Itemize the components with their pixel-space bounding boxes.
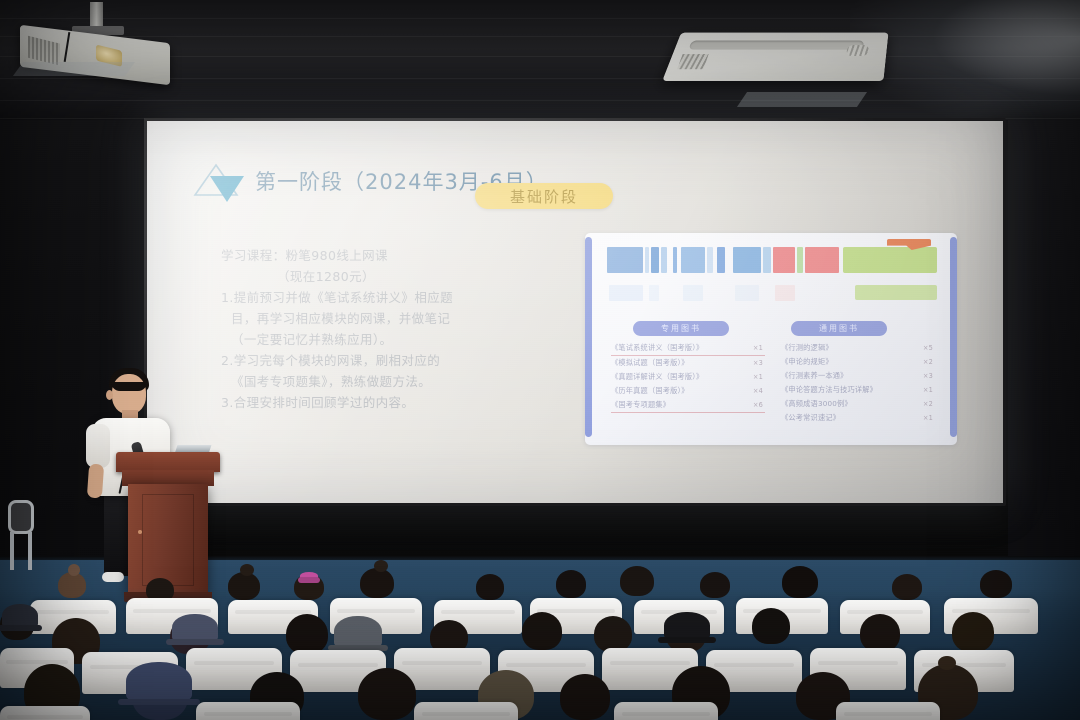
audience-head — [358, 668, 416, 720]
audience-cap — [2, 604, 38, 628]
audience-head — [980, 570, 1012, 598]
body-line: 1.提前预习并做《笔试系统讲义》相应题 — [221, 287, 531, 308]
presenter-ear — [106, 390, 113, 400]
book-column-special: 《笔试系统讲义（国考版）》 ×1 《模拟试题（国考版）》 ×3 《真题详解讲义（… — [611, 341, 765, 413]
book-name: 《公考常识速记》 — [781, 413, 840, 423]
book-green-block — [843, 247, 937, 273]
audience-cap — [334, 616, 382, 648]
book-name: 《真题详解讲义（国考版）》 — [611, 372, 703, 382]
audience-hair-bun — [240, 564, 254, 576]
seat — [836, 702, 940, 720]
audience-cap — [664, 612, 710, 640]
book-list-panel: 专用图书 通用图书 《笔试系统讲义（国考版）》 ×1 《模拟试题（国考版）》 ×… — [585, 233, 957, 445]
book-row: 《模拟试题（国考版）》 ×3 — [611, 356, 765, 370]
podium-knob-icon — [138, 530, 142, 534]
book-qty: ×1 — [749, 344, 763, 352]
row-rule — [611, 412, 765, 413]
book-qty: ×5 — [919, 344, 933, 352]
book-column-general: 《行测的逻辑》 ×5 《申论的规矩》 ×2 《行测素养一本通》 ×3 — [781, 341, 935, 425]
audience-hair-clip — [300, 572, 318, 580]
audience-hair-bun — [68, 564, 80, 576]
seat — [0, 706, 90, 720]
presenter-fringe — [111, 382, 147, 391]
book-covers-strip — [607, 241, 937, 311]
audience-head — [782, 566, 818, 598]
audience-cap — [126, 662, 192, 702]
body-line: （一定要记忆并熟练应用）。 — [221, 329, 531, 350]
book-name: 《历年真题（国考版）》 — [611, 386, 689, 396]
book-name: 《行测的逻辑》 — [781, 343, 833, 353]
triangle-logo-icon — [191, 161, 241, 201]
audience-head — [860, 614, 900, 652]
audience-head — [522, 612, 562, 650]
book-name: 《申论答题方法与技巧详解》 — [781, 385, 877, 395]
book-qty: ×4 — [749, 387, 763, 395]
panel-accent-right — [950, 237, 957, 437]
body-line: 目，再学习相应模块的网课，并做笔记 — [221, 308, 531, 329]
audience-head — [952, 612, 994, 652]
projector-body — [20, 25, 170, 85]
stage-chip: 基础阶段 — [475, 183, 613, 209]
podium-top — [116, 452, 220, 472]
audience-head — [360, 568, 394, 598]
book-qty: ×2 — [919, 400, 933, 408]
ceiling-ac-cassette — [662, 33, 888, 81]
audience-head — [594, 616, 632, 652]
triangle-down-icon — [210, 176, 244, 202]
audience-head — [892, 574, 922, 600]
book-qty: ×2 — [919, 358, 933, 366]
audience-head — [620, 566, 654, 596]
book-row: 《行测素养一本通》 ×3 — [781, 369, 935, 383]
audience-head — [228, 572, 260, 600]
book-row: 《历年真题（国考版）》 ×4 — [611, 384, 765, 398]
lecture-hall-photo: 第一阶段（2024年3月-6月） 基础阶段 学习课程：粉笔980线上网课 （现在… — [0, 0, 1080, 720]
book-qty: ×1 — [749, 373, 763, 381]
book-name: 《笔试系统讲义（国考版）》 — [611, 343, 703, 353]
book-row: 《申论答题方法与技巧详解》 ×1 — [781, 383, 935, 397]
book-row: 《公考常识速记》 ×1 — [781, 411, 935, 425]
panel-accent-left — [585, 237, 592, 437]
audience — [0, 556, 1080, 720]
audience-head — [476, 574, 504, 600]
body-line: 2.学习完每个模块的网课，刷相对应的 — [221, 350, 531, 371]
slide-surface: 第一阶段（2024年3月-6月） 基础阶段 学习课程：粉笔980线上网课 （现在… — [147, 121, 1003, 503]
projection-screen: 第一阶段（2024年3月-6月） 基础阶段 学习课程：粉笔980线上网课 （现在… — [144, 118, 1006, 506]
body-line: （现在1280元） — [221, 266, 531, 287]
book-green-block-2 — [855, 285, 937, 300]
book-row: 《国考专项题集》 ×6 — [611, 398, 765, 412]
presenter-sleeve — [86, 424, 110, 468]
audience-head — [560, 674, 610, 720]
ac-shadow — [737, 92, 867, 107]
seat — [196, 702, 300, 720]
book-row: 《笔试系统讲义（国考版）》 ×1 — [611, 341, 765, 355]
book-qty: ×3 — [749, 359, 763, 367]
slide-content: 第一阶段（2024年3月-6月） 基础阶段 学习课程：粉笔980线上网课 （现在… — [147, 121, 1003, 503]
body-line: 学习课程：粉笔980线上网课 — [221, 245, 531, 266]
book-name: 《国考专项题集》 — [611, 400, 670, 410]
audience-cap — [172, 614, 218, 642]
badge-special-books: 专用图书 — [633, 321, 729, 336]
audience-hair-bun — [374, 560, 388, 572]
audience-head — [556, 570, 586, 598]
book-name: 《申论的规矩》 — [781, 357, 833, 367]
ac-grille-icon — [688, 41, 864, 50]
seat — [414, 702, 518, 720]
book-qty: ×1 — [919, 386, 933, 394]
book-qty: ×3 — [919, 372, 933, 380]
ac-vent-left-icon — [677, 54, 709, 69]
book-name: 《行测素养一本通》 — [781, 371, 848, 381]
audience-head — [752, 608, 790, 644]
book-row: 《真题详解讲义（国考版）》 ×1 — [611, 370, 765, 384]
book-row: 《行测的逻辑》 ×5 — [781, 341, 935, 355]
badge-general-books: 通用图书 — [791, 321, 887, 336]
audience-head — [286, 614, 328, 654]
book-name: 《模拟试题（国考版）》 — [611, 358, 689, 368]
presenter-left-arm — [87, 464, 104, 499]
slide-body-text: 学习课程：粉笔980线上网课 （现在1280元） 1.提前预习并做《笔试系统讲义… — [221, 245, 531, 413]
body-line: 《国考专项题集》，熟练做题方法。 — [221, 371, 531, 392]
ac-vent-right-icon — [846, 45, 869, 56]
projector-shadow — [13, 62, 135, 76]
book-row: 《申论的规矩》 ×2 — [781, 355, 935, 369]
audience-head — [700, 572, 730, 598]
presenter-head — [112, 374, 146, 414]
book-qty: ×6 — [749, 401, 763, 409]
book-row: 《高频成语3000例》 ×2 — [781, 397, 935, 411]
book-qty: ×1 — [919, 414, 933, 422]
seat — [614, 702, 718, 720]
body-line: 3.合理安排时间回顾学过的内容。 — [221, 392, 531, 413]
audience-hair-bun — [938, 656, 956, 670]
right-wall — [1008, 120, 1080, 590]
book-name: 《高频成语3000例》 — [781, 399, 852, 409]
